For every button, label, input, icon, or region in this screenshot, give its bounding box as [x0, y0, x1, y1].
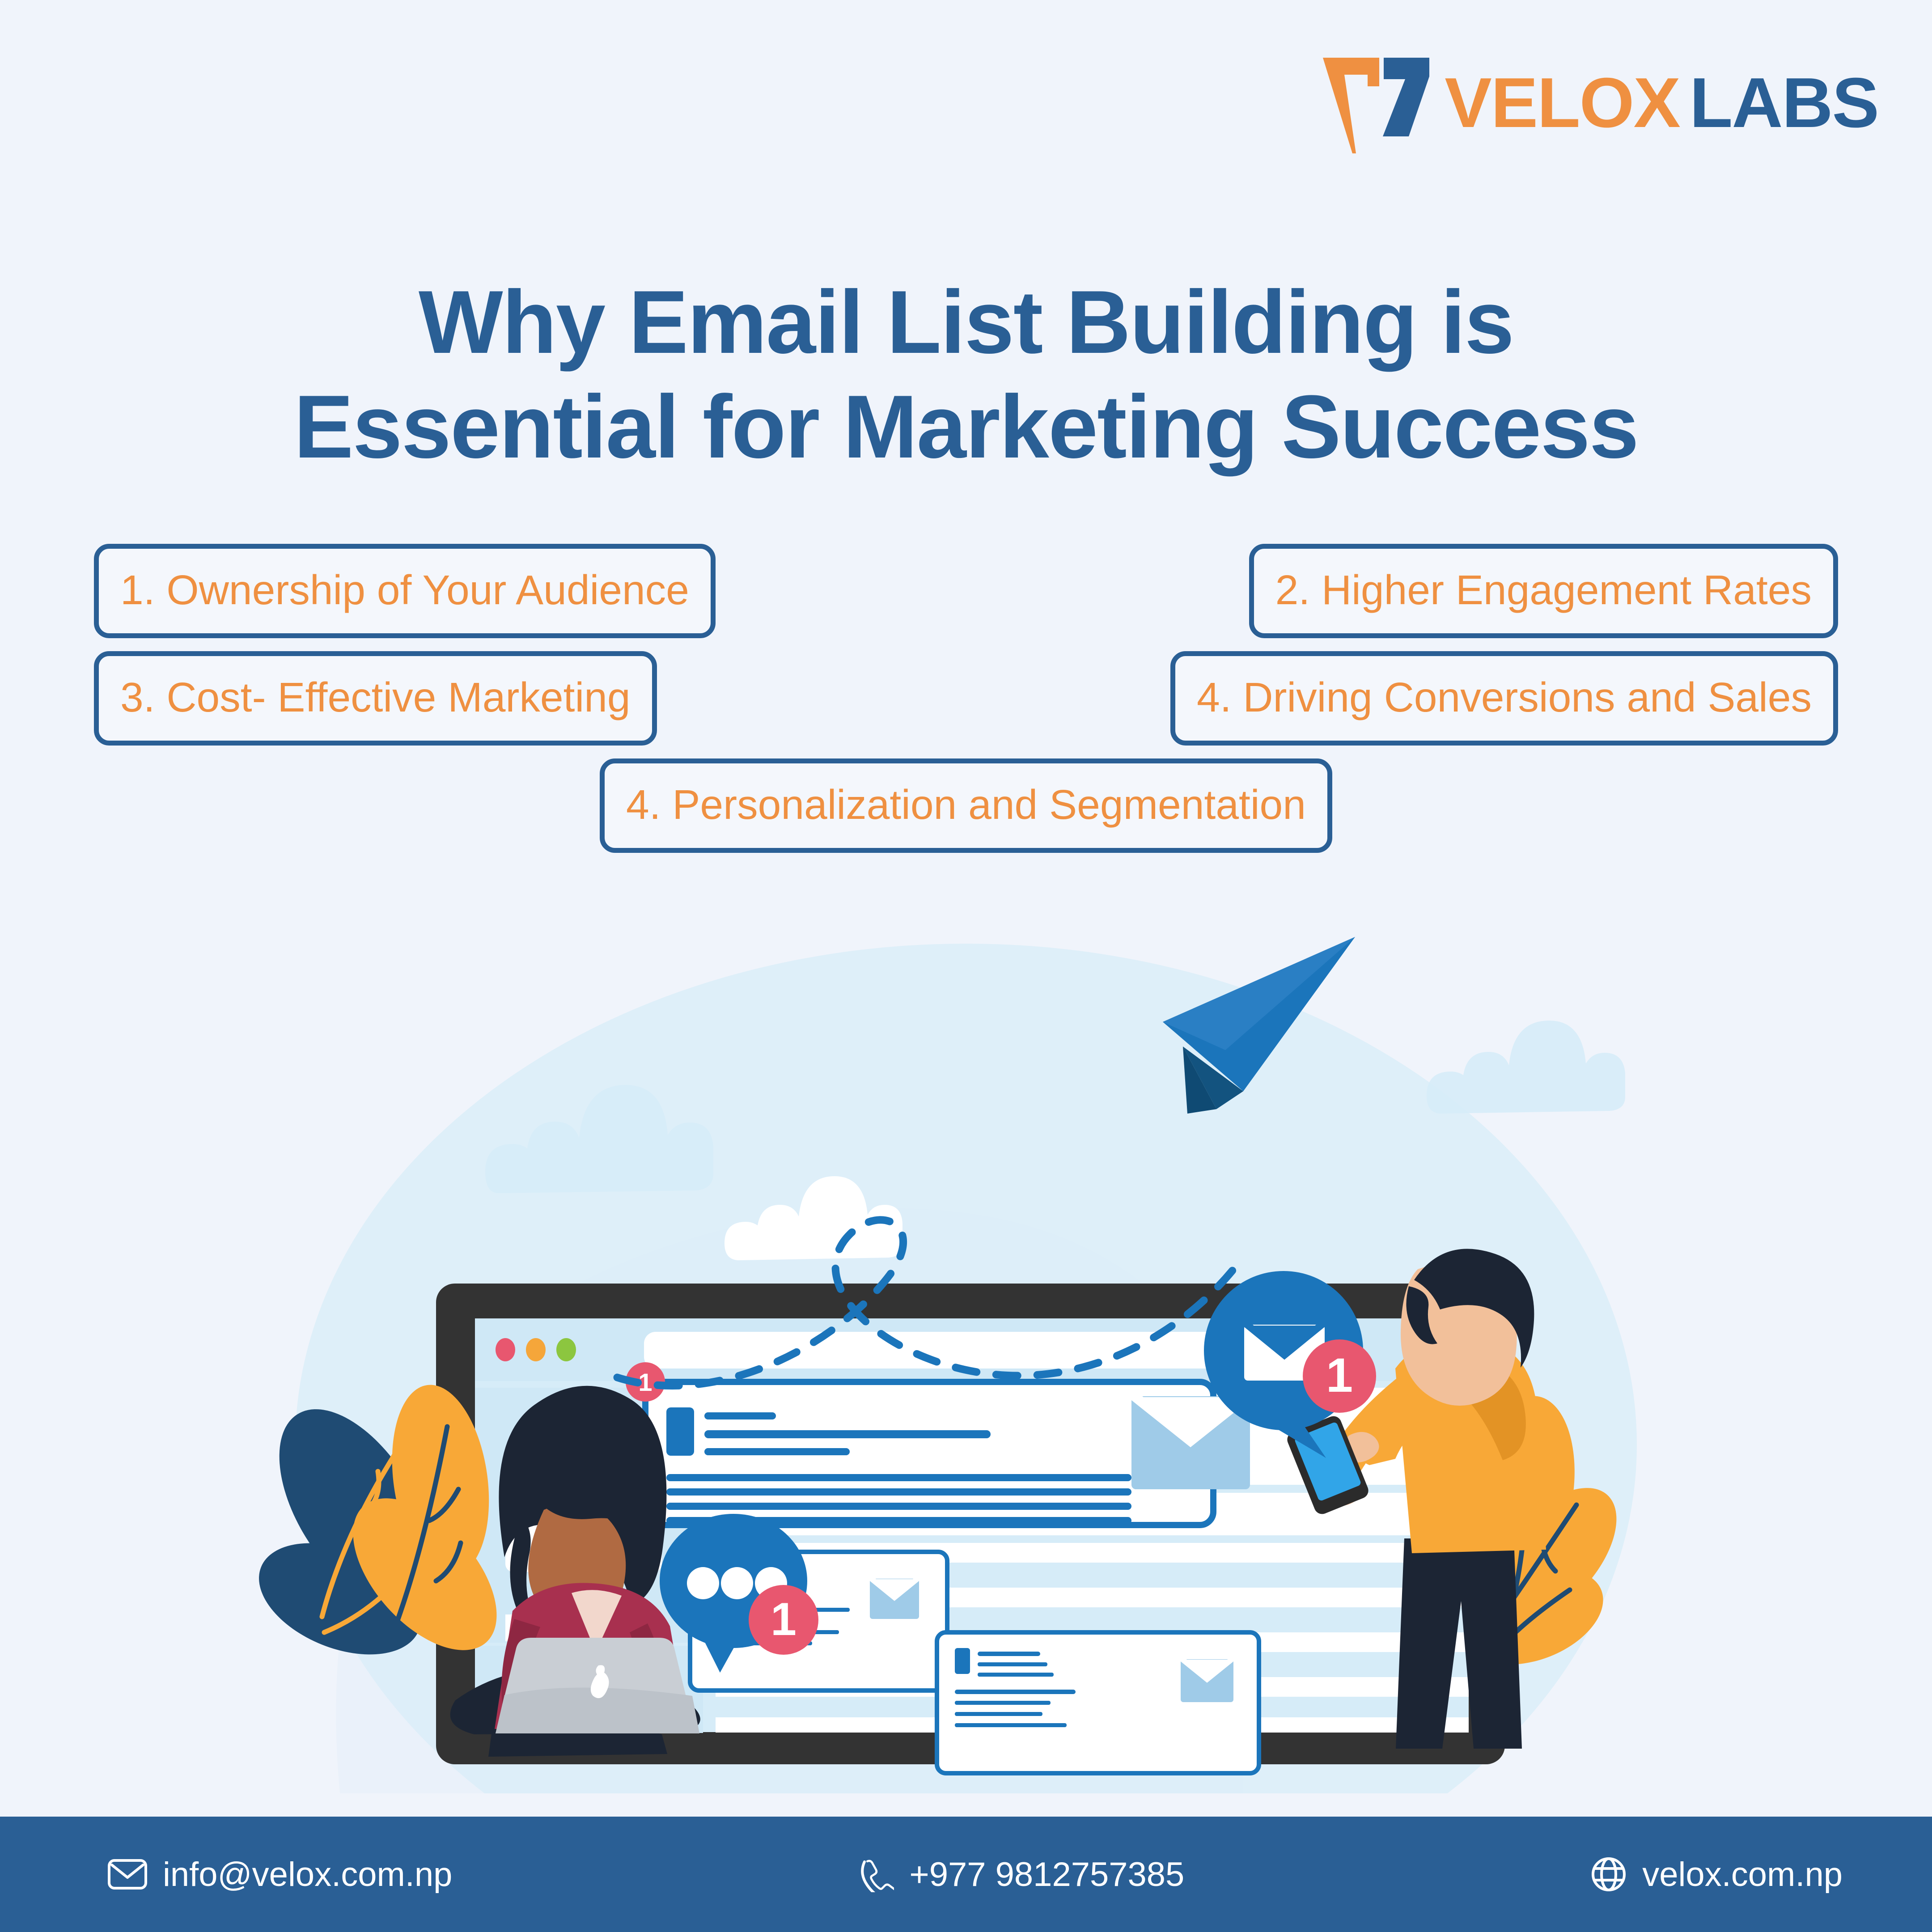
envelope-icon-card-a — [870, 1578, 919, 1619]
page-title-line2: Essential for Marketing Success — [67, 375, 1865, 479]
footer-website-text: velox.com.np — [1642, 1855, 1843, 1894]
email-card-small-b — [937, 1632, 1259, 1773]
cloud-icon-right — [1427, 1021, 1625, 1114]
page-title: Why Email List Building is Essential for… — [0, 270, 1932, 479]
brand-name-velox: VELOX — [1445, 64, 1680, 142]
velox-v7-mark-icon — [1319, 51, 1431, 154]
badge-phone-count: 1 — [1326, 1348, 1353, 1402]
benefit-chip-2[interactable]: 2. Higher Engagement Rates — [1249, 544, 1838, 638]
brand-name-labs: LABS — [1690, 64, 1878, 142]
envelope-icon — [107, 1858, 148, 1891]
typing-dot-2 — [721, 1567, 753, 1599]
poster-canvas: VELOXLABS Why Email List Building is Ess… — [0, 0, 1932, 1932]
footer-email-text: info@velox.com.np — [163, 1855, 452, 1894]
benefit-chip-5[interactable]: 4. Personalization and Segmentation — [600, 758, 1332, 853]
email-marketing-illustration: 1 — [0, 917, 1932, 1793]
badge-chat-count: 1 — [771, 1593, 797, 1645]
footer-website[interactable]: velox.com.np — [1590, 1855, 1843, 1894]
typing-dot-1 — [687, 1567, 719, 1599]
window-dot-yellow — [526, 1338, 546, 1361]
window-dot-red — [496, 1338, 515, 1361]
benefits-list: 1. Ownership of Your Audience 2. Higher … — [0, 544, 1932, 866]
laptop — [496, 1638, 699, 1733]
footer-email[interactable]: info@velox.com.np — [107, 1855, 452, 1894]
brand-name: VELOXLABS — [1445, 68, 1878, 138]
phone-icon — [858, 1856, 894, 1892]
benefit-chip-4[interactable]: 4. Driving Conversions and Sales — [1170, 651, 1838, 746]
email-card-large: 1 — [626, 1362, 1250, 1525]
brand-logo[interactable]: VELOXLABS — [1319, 58, 1878, 148]
page-title-line1: Why Email List Building is — [419, 272, 1513, 372]
window-dot-green — [556, 1338, 576, 1361]
globe-icon — [1590, 1856, 1627, 1893]
address-bar — [644, 1332, 1266, 1368]
envelope-icon-card-b — [1181, 1659, 1233, 1702]
footer-phone[interactable]: +977 9812757385 — [858, 1855, 1184, 1894]
benefit-chip-3[interactable]: 3. Cost- Effective Marketing — [94, 651, 657, 746]
contact-footer: info@velox.com.np +977 9812757385 ve — [0, 1817, 1932, 1932]
benefit-chip-1[interactable]: 1. Ownership of Your Audience — [94, 544, 716, 638]
footer-phone-text: +977 9812757385 — [909, 1855, 1184, 1894]
